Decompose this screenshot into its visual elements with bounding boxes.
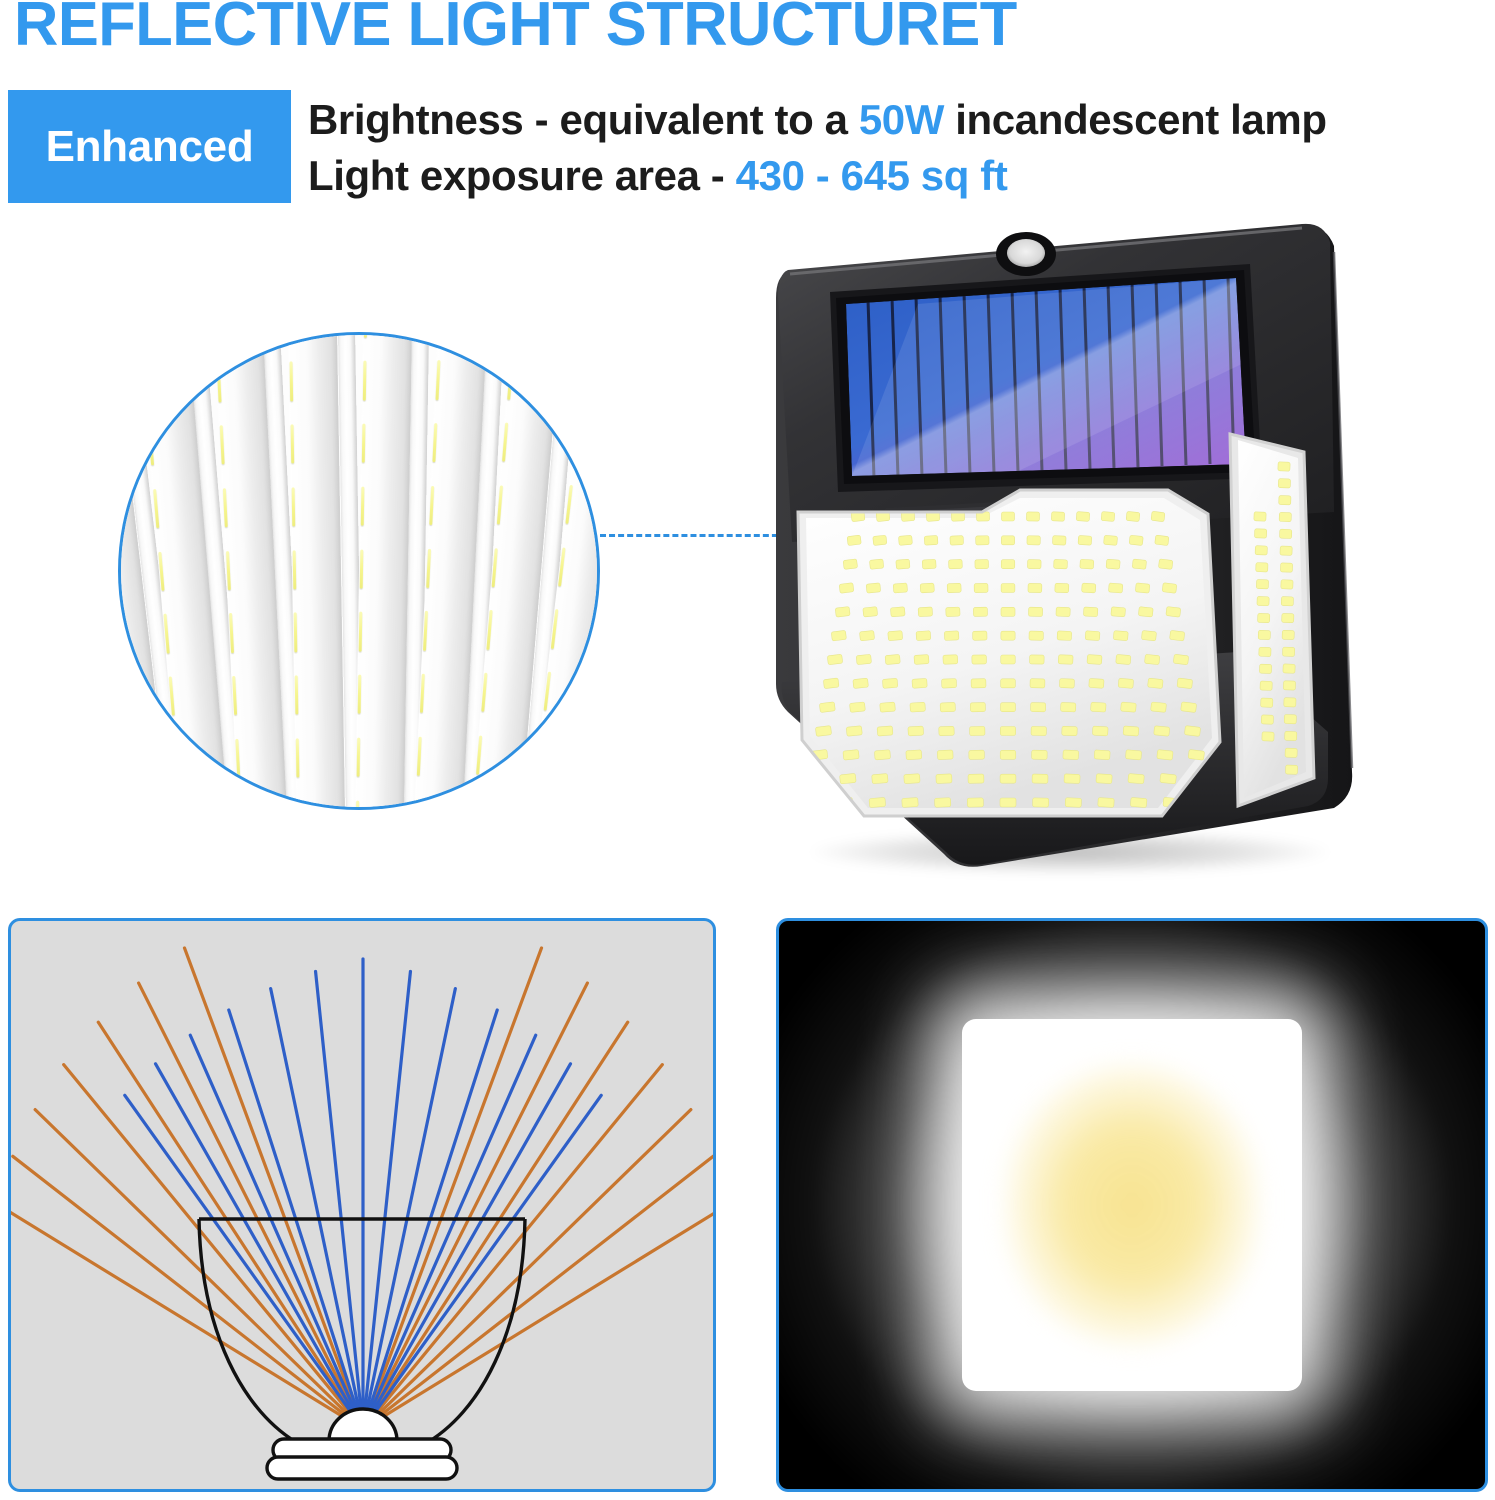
led-chip <box>807 773 824 784</box>
led-chip <box>1059 679 1074 689</box>
led-chip <box>1076 512 1090 522</box>
light-ray <box>363 1035 536 1429</box>
led-chip <box>940 702 955 712</box>
led-chip <box>1257 596 1269 605</box>
led-chip <box>435 360 440 399</box>
led-chip <box>1262 732 1274 741</box>
light-ray <box>139 983 363 1429</box>
led-chip <box>1279 512 1291 521</box>
light-source-square <box>962 1019 1302 1391</box>
led-chip <box>1259 664 1271 673</box>
led-chip <box>1282 630 1294 639</box>
led-chip <box>1054 559 1068 569</box>
led-chip <box>1111 607 1126 617</box>
light-ray <box>13 1156 363 1429</box>
light-ray <box>184 948 363 1429</box>
led-chip <box>163 614 169 653</box>
led-chip <box>1031 726 1046 735</box>
led-chip <box>153 489 159 528</box>
light-ray <box>363 1156 713 1429</box>
led-chip <box>1001 631 1015 640</box>
led-chip <box>843 559 857 570</box>
led-chip <box>1138 607 1153 617</box>
led-chip <box>847 535 861 546</box>
led-chip <box>179 802 185 810</box>
led-chip <box>294 613 298 652</box>
led-chip <box>296 738 300 777</box>
led-chip <box>912 678 927 688</box>
led-chip <box>942 679 957 689</box>
led-chip <box>904 774 920 784</box>
led-chip <box>896 559 910 569</box>
led-chip <box>840 773 857 784</box>
spec-coverage-prefix: Light exposure area - <box>308 152 736 199</box>
led-chip <box>1184 726 1200 737</box>
led-chip <box>143 364 149 403</box>
led-chip <box>1282 613 1294 622</box>
led-chip <box>1162 583 1177 594</box>
led-chip <box>1033 798 1049 807</box>
led-chip <box>1278 462 1290 471</box>
led-chip <box>423 611 428 650</box>
led-chip <box>1030 679 1045 688</box>
led-chip <box>429 486 434 525</box>
led-chip <box>898 535 912 545</box>
led-chip <box>438 332 443 337</box>
led-chip <box>918 607 933 617</box>
led-chip <box>1144 654 1159 664</box>
led-chip <box>1281 597 1293 606</box>
led-chip <box>1278 479 1290 488</box>
led-chip <box>293 550 297 589</box>
led-chip <box>869 797 886 807</box>
led-chip <box>1259 647 1271 656</box>
led-chip <box>1254 512 1266 521</box>
led-chip <box>1148 678 1164 688</box>
solar-panel <box>846 277 1246 478</box>
led-chip <box>970 703 985 712</box>
led-chip <box>1106 559 1120 569</box>
spec-brightness-prefix: Brightness - equivalent to a <box>308 96 859 143</box>
led-chip <box>1029 631 1043 640</box>
led-chip <box>866 583 881 593</box>
led-chip <box>1258 630 1270 639</box>
led-chip <box>426 549 431 588</box>
led-chip <box>169 677 175 716</box>
led-chip <box>572 422 579 461</box>
led-chip <box>1031 703 1046 712</box>
led-chip <box>856 654 871 664</box>
led-chip <box>1158 559 1172 570</box>
led-chip <box>1083 607 1098 617</box>
led-chip <box>295 676 299 715</box>
led-chip <box>289 332 293 338</box>
led-chip <box>587 332 594 337</box>
led-chip <box>416 737 421 776</box>
led-chip <box>1280 546 1292 555</box>
page-title: REFLECTIVE LIGHT STRUCTURET <box>14 0 1459 58</box>
led-chip <box>1000 798 1016 807</box>
led-chip <box>949 559 963 569</box>
led-chip <box>1092 726 1108 736</box>
led-chip <box>238 801 243 810</box>
beam-diagram-svg <box>11 921 713 1489</box>
led-chip <box>1052 536 1066 546</box>
led-chip <box>476 735 482 774</box>
status-badge-label: Enhanced <box>46 125 254 169</box>
light-ray <box>11 1204 363 1429</box>
led-chip <box>888 631 903 641</box>
led-chip <box>290 362 294 401</box>
led-chip <box>471 798 477 810</box>
led-chip <box>1256 579 1268 588</box>
led-chip <box>1116 654 1131 664</box>
led-chip <box>1032 750 1048 759</box>
led-chip <box>1085 631 1100 641</box>
led-chip <box>492 548 498 587</box>
led-chip <box>1026 512 1039 521</box>
led-chip <box>934 798 950 808</box>
led-chip <box>1055 583 1069 593</box>
led-chip <box>893 583 907 593</box>
spec-brightness-value: 50W <box>859 96 944 143</box>
led-chip <box>972 655 987 664</box>
led-chip <box>1256 563 1268 572</box>
led-chip <box>174 739 180 778</box>
led-chip <box>1064 774 1080 784</box>
light-ray <box>363 1022 628 1429</box>
led-macro-surface <box>118 332 600 810</box>
led-chip <box>1028 607 1042 616</box>
led-chip <box>1126 511 1140 521</box>
led-chip <box>969 750 985 759</box>
led-chip <box>974 583 988 592</box>
led-chip <box>1261 698 1273 707</box>
led-chip <box>232 676 237 715</box>
main-led-panel <box>798 490 1220 816</box>
led-chip <box>924 535 938 545</box>
led-chip <box>1057 631 1072 641</box>
led-chip <box>1029 655 1044 664</box>
led-chip <box>1104 535 1118 545</box>
led-chip <box>831 630 846 641</box>
led-chip <box>1284 714 1296 723</box>
led-chip <box>1002 512 1015 521</box>
led-chip <box>364 332 368 337</box>
led-chip <box>118 739 120 778</box>
mounting-hole <box>996 232 1056 276</box>
led-chip <box>1280 529 1292 538</box>
led-chip <box>968 774 984 783</box>
led-chip <box>970 726 985 735</box>
led-chip <box>823 678 839 689</box>
led-chip <box>1087 655 1102 665</box>
led-chip <box>850 702 866 712</box>
led-chip <box>1001 703 1016 712</box>
spec-line-coverage: Light exposure area - 430 - 645 sq ft <box>308 148 1488 204</box>
light-ray <box>363 983 587 1429</box>
led-chip <box>906 750 922 760</box>
led-chip <box>1255 546 1267 555</box>
led-chip <box>120 802 127 810</box>
led-chip <box>502 423 508 462</box>
led-chip <box>920 583 934 593</box>
led-chip <box>291 425 295 464</box>
led-chip <box>1001 560 1015 569</box>
led-chip <box>1000 750 1016 759</box>
led-chip <box>1141 630 1156 640</box>
led-chip <box>1254 529 1266 538</box>
led-chip <box>1284 698 1296 707</box>
light-ray <box>363 1065 662 1429</box>
led-chip <box>226 551 231 590</box>
led-chip <box>1000 774 1016 783</box>
led-chip <box>580 360 587 399</box>
led-chip <box>360 549 364 588</box>
led-chip <box>1283 664 1295 673</box>
led-chip <box>432 423 437 462</box>
led-chip <box>908 726 924 736</box>
led-chip <box>362 424 366 463</box>
led-chip <box>819 702 835 713</box>
led-chip <box>1108 583 1122 593</box>
led-chip <box>1258 613 1270 622</box>
led-chip <box>944 631 959 641</box>
led-chip <box>869 559 883 569</box>
led-chip <box>839 583 854 594</box>
led-chip <box>359 612 363 651</box>
led-chip <box>885 654 900 664</box>
led-chip <box>815 726 831 737</box>
led-chip <box>1151 702 1167 712</box>
led-chip <box>1062 726 1078 736</box>
led-chip <box>1091 702 1107 712</box>
spec-brightness-suffix: incandescent lamp <box>944 96 1327 143</box>
led-chip <box>213 332 218 339</box>
led-chip <box>1282 647 1294 656</box>
led-chip <box>356 738 360 777</box>
led-chip <box>910 702 926 712</box>
led-column <box>287 332 346 810</box>
led-chip <box>1166 607 1181 618</box>
led-chip <box>1123 726 1139 736</box>
led-chip <box>971 679 986 688</box>
product-illustration <box>768 212 1360 872</box>
led-chip <box>419 674 424 713</box>
led-chip <box>1001 679 1016 688</box>
led-chip <box>137 332 143 340</box>
led-chip <box>497 485 503 524</box>
led-chip <box>222 488 227 527</box>
led-chip <box>1261 715 1273 724</box>
led-chip <box>976 536 989 545</box>
led-chip <box>1160 773 1177 784</box>
led-chip <box>967 798 983 807</box>
led-chip <box>481 673 487 712</box>
led-chip <box>853 678 869 688</box>
led-chip <box>1279 495 1291 504</box>
led-chip <box>973 631 987 640</box>
led-chip <box>297 801 301 810</box>
led-chip <box>914 655 929 665</box>
led-chip <box>902 798 919 808</box>
direct-ray-group <box>125 959 601 1429</box>
led-emitter <box>267 1409 457 1479</box>
led-chip <box>1135 583 1150 593</box>
led-chip <box>1188 749 1204 760</box>
led-chip <box>936 774 952 784</box>
led-chip <box>937 750 953 760</box>
led-chip <box>872 774 888 784</box>
led-chip <box>975 560 989 569</box>
led-chip <box>1132 559 1146 569</box>
light-ray <box>363 948 542 1429</box>
led-chip <box>1181 702 1197 713</box>
led-chip <box>1285 765 1297 774</box>
light-ray <box>363 1110 691 1429</box>
led-chip <box>1283 681 1295 690</box>
reflector-beam-diagram <box>8 918 716 1492</box>
led-chip <box>1000 727 1015 736</box>
led-chip <box>1121 702 1137 712</box>
led-chip <box>1027 536 1040 545</box>
led-chip <box>513 332 519 337</box>
led-chip <box>1096 774 1112 784</box>
led-chip <box>916 631 931 641</box>
led-macro-closeup <box>118 332 600 810</box>
led-chip <box>835 607 850 618</box>
led-chip <box>873 535 887 545</box>
led-chip <box>1032 774 1048 783</box>
led-chip <box>216 363 221 402</box>
led-chip <box>943 655 958 665</box>
led-chip <box>874 750 890 760</box>
led-chip <box>1098 798 1115 808</box>
led-chip <box>1285 748 1297 757</box>
led-chip <box>1128 774 1144 784</box>
led-chip <box>1101 511 1115 521</box>
led-chip <box>565 485 572 524</box>
led-chip <box>1051 512 1064 522</box>
led-chip <box>1280 563 1292 572</box>
led-chip <box>827 654 842 665</box>
led-chip <box>880 702 896 712</box>
led-chip <box>973 607 987 616</box>
spec-coverage-value: 430 - 645 sq ft <box>736 152 1008 199</box>
led-chip <box>1056 607 1070 617</box>
led-chip <box>229 613 234 652</box>
light-ray <box>190 1035 363 1429</box>
led-chip <box>1028 583 1042 592</box>
led-chip <box>1125 750 1141 760</box>
led-chip <box>1027 560 1041 569</box>
led-chip <box>922 559 936 569</box>
led-chip <box>859 630 874 640</box>
led-chip <box>863 607 878 617</box>
led-chip <box>487 610 493 649</box>
spec-list: Brightness - equivalent to a 50W incande… <box>308 92 1488 204</box>
led-chip <box>939 726 955 736</box>
led-chip <box>292 487 296 526</box>
light-ray <box>35 1110 363 1429</box>
led-chip <box>890 607 905 617</box>
led-chip <box>1082 583 1096 593</box>
illumination-demo-photo <box>776 918 1488 1492</box>
led-chip <box>1170 630 1185 641</box>
led-chip <box>1001 655 1016 664</box>
led-chip <box>1260 681 1272 690</box>
led-chip <box>1080 559 1094 569</box>
led-chip <box>1151 511 1165 522</box>
led-chip <box>1154 726 1170 737</box>
dashed-callout-line <box>600 534 796 537</box>
led-chip <box>219 425 224 464</box>
status-badge: Enhanced <box>8 90 291 203</box>
led-chip <box>1281 580 1293 589</box>
led-chip <box>1118 678 1133 688</box>
led-chip <box>882 678 897 688</box>
led-chip <box>357 675 361 714</box>
led-chip <box>1157 750 1173 761</box>
led-chip <box>877 726 893 736</box>
led-chip <box>1173 654 1188 665</box>
spec-line-brightness: Brightness - equivalent to a 50W incande… <box>308 92 1488 148</box>
led-chip <box>1065 798 1081 808</box>
led-chip <box>1155 535 1169 546</box>
led-chip <box>947 583 961 593</box>
led-chip <box>1001 536 1014 545</box>
led-chip <box>148 426 154 465</box>
led-chip <box>1063 750 1079 760</box>
led-chip <box>507 360 513 399</box>
led-chip <box>235 739 240 778</box>
led-chip <box>1113 631 1128 641</box>
led-chip <box>363 361 367 400</box>
led-chip <box>1001 607 1015 616</box>
led-chip <box>1130 797 1147 807</box>
led-chip <box>950 536 964 546</box>
led-chip <box>158 551 164 590</box>
led-chip <box>1001 584 1015 593</box>
led-chip <box>1089 678 1104 688</box>
led-chip <box>1094 750 1110 760</box>
led-chip <box>804 797 821 808</box>
warm-glow-core <box>1007 1066 1257 1344</box>
led-chip <box>843 750 859 761</box>
led-chip <box>1177 678 1193 689</box>
led-chip <box>1129 535 1143 545</box>
led-chip <box>946 607 960 617</box>
light-ray <box>363 1204 713 1429</box>
solar-motion-wall-light <box>768 212 1360 872</box>
light-ray <box>64 1065 363 1429</box>
led-chip <box>1078 535 1092 545</box>
led-chip <box>846 726 862 737</box>
led-chip <box>1058 655 1073 665</box>
side-led-panel <box>1230 434 1314 806</box>
led-chip <box>1285 731 1297 740</box>
led-chip <box>355 800 359 810</box>
led-chip <box>1061 702 1076 712</box>
led-chip <box>361 487 365 526</box>
led-chip <box>413 799 418 810</box>
